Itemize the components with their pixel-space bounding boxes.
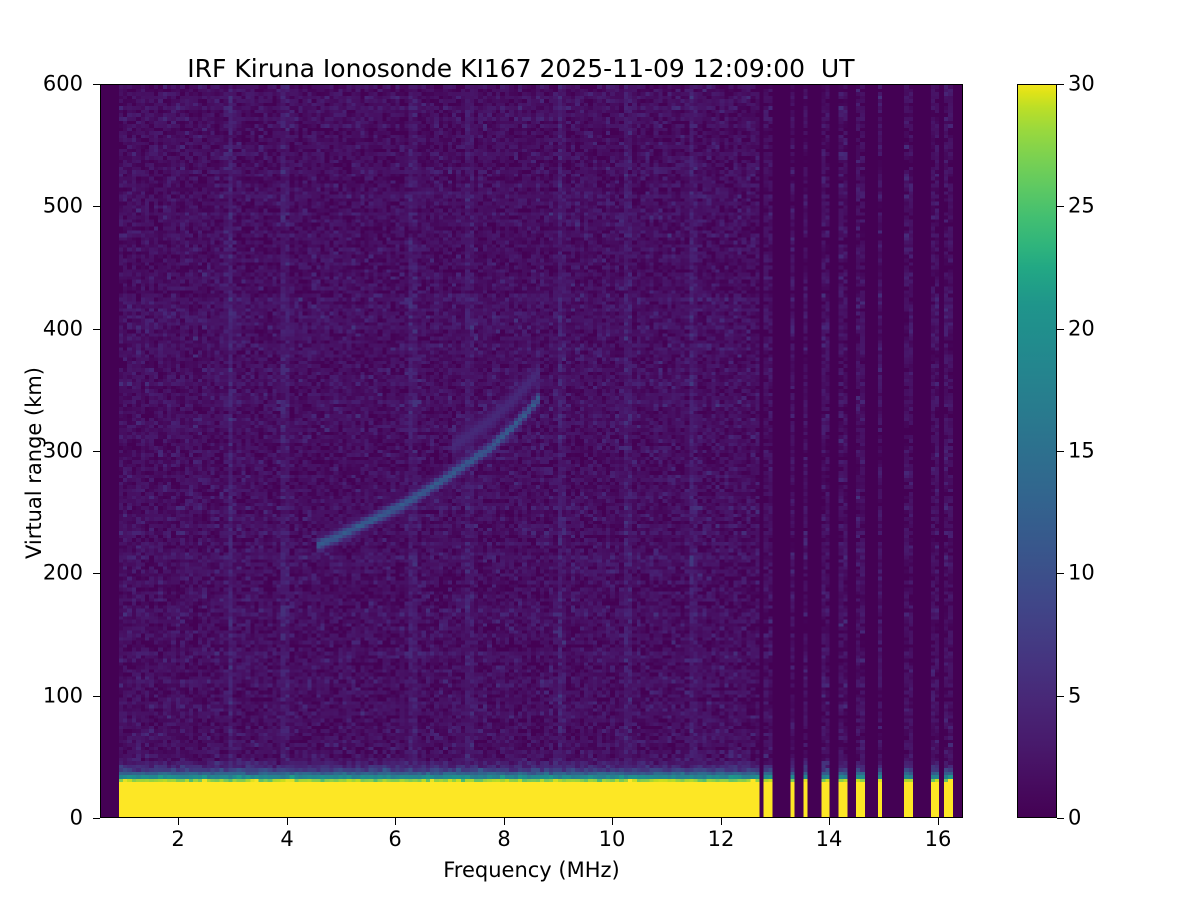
colorbar-tick-30: [1057, 84, 1064, 85]
x-axis-title: Frequency (MHz): [100, 858, 963, 882]
colorbar-tick-10: [1057, 573, 1064, 574]
colorbar-tick-20: [1057, 329, 1064, 330]
y-tick-label-100: 100: [33, 686, 83, 707]
x-tick-16: [938, 818, 939, 825]
x-tick-6: [395, 818, 396, 825]
x-tick-label-2: 2: [138, 827, 218, 851]
y-tick-label-600: 600: [33, 74, 83, 95]
colorbar-label-15: 15: [1068, 441, 1128, 462]
y-tick-100: [93, 696, 100, 697]
y-tick-600: [93, 84, 100, 85]
x-tick-12: [721, 818, 722, 825]
y-tick-300: [93, 451, 100, 452]
title-line-1: IRF Kiruna Ionosonde KI167 2025-11-09 12…: [187, 54, 854, 83]
ionogram-heatmap-canvas: [101, 85, 962, 817]
colorbar[interactable]: [1017, 84, 1057, 818]
y-tick-400: [93, 329, 100, 330]
colorbar-label-30: 30: [1068, 74, 1128, 95]
y-tick-label-500: 500: [33, 196, 83, 217]
colorbar-label-0: 0: [1068, 808, 1128, 829]
colorbar-label-20: 20: [1068, 319, 1128, 340]
x-tick-label-12: 12: [681, 827, 761, 851]
colorbar-label-25: 25: [1068, 196, 1128, 217]
x-tick-label-14: 14: [789, 827, 869, 851]
x-tick-10: [612, 818, 613, 825]
ionogram-figure: IRF Kiruna Ionosonde KI167 2025-11-09 12…: [0, 0, 1200, 900]
colorbar-tick-15: [1057, 451, 1064, 452]
colorbar-tick-5: [1057, 696, 1064, 697]
x-tick-2: [178, 818, 179, 825]
colorbar-label-10: 10: [1068, 563, 1128, 584]
x-tick-label-10: 10: [572, 827, 652, 851]
x-tick-label-16: 16: [898, 827, 978, 851]
x-tick-14: [829, 818, 830, 825]
x-tick-8: [504, 818, 505, 825]
y-tick-500: [93, 206, 100, 207]
colorbar-label-5: 5: [1068, 686, 1128, 707]
x-tick-label-4: 4: [247, 827, 327, 851]
y-tick-200: [93, 573, 100, 574]
x-tick-label-6: 6: [355, 827, 435, 851]
y-tick-0: [93, 818, 100, 819]
colorbar-tick-25: [1057, 206, 1064, 207]
x-tick-label-8: 8: [464, 827, 544, 851]
ionogram-plot-area[interactable]: [100, 84, 963, 818]
colorbar-tick-0: [1057, 818, 1064, 819]
x-tick-4: [287, 818, 288, 825]
y-tick-label-0: 0: [33, 808, 83, 829]
y-axis-title: Virtual range (km): [22, 263, 46, 663]
